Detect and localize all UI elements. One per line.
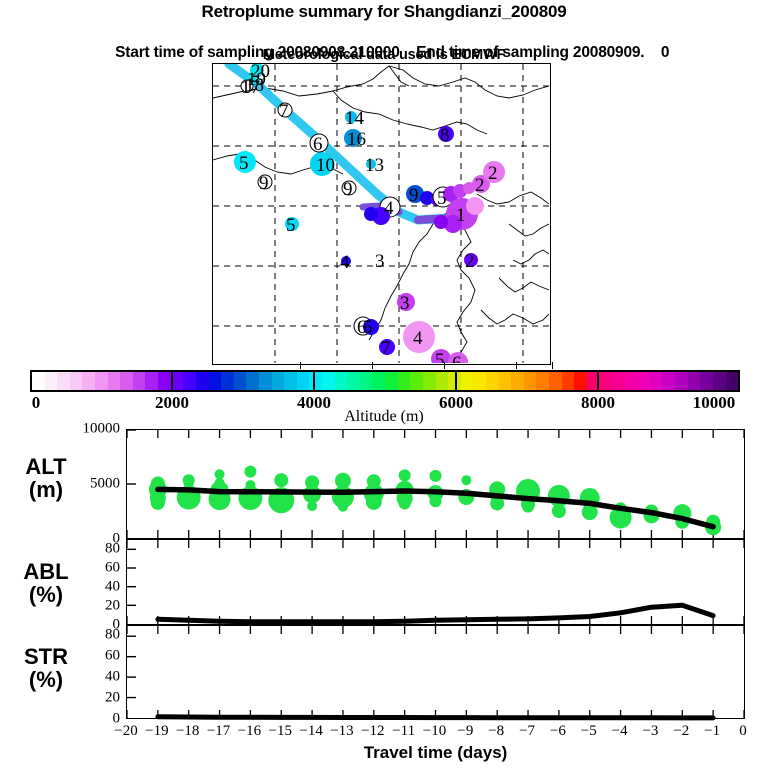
map-day-label: 5 <box>239 153 249 174</box>
xaxis-title: Travel time (days) <box>126 743 745 763</box>
map-day-label: 10 <box>316 155 335 176</box>
colorbar-segment <box>297 372 310 390</box>
colorbar-segment <box>360 372 373 390</box>
retroplume-map[interactable]: 201918177596101416138954493522135674562 <box>212 63 551 365</box>
alt-scatter-point <box>215 469 225 479</box>
abl-plot-canvas <box>127 540 744 624</box>
x-tick-label: −17 <box>207 723 230 740</box>
altitude-colorbar <box>30 370 740 392</box>
x-tick-label: 0 <box>739 723 747 740</box>
colorbar-segment <box>461 372 474 390</box>
colorbar-segment <box>536 372 549 390</box>
x-tick-label: −8 <box>488 723 504 740</box>
colorbar-segment <box>599 372 612 390</box>
colorbar-segment <box>32 372 45 390</box>
y-tick-label: 80 <box>60 627 120 644</box>
x-tick-label: −7 <box>519 723 535 740</box>
alt-scatter-point <box>274 473 288 487</box>
colorbar-segment <box>322 372 335 390</box>
colorbar-segment <box>612 372 625 390</box>
x-tick-label: −12 <box>361 723 384 740</box>
retroplume-summary-figure: Retroplume summary for Shangdianzi_20080… <box>0 0 768 768</box>
colorbar-segment <box>82 372 95 390</box>
colorbar-major-division <box>171 370 173 392</box>
map-day-label: 6 <box>452 353 462 363</box>
x-tick-label: −10 <box>423 723 446 740</box>
alt-scatter-point <box>366 494 382 510</box>
colorbar-segment <box>183 372 196 390</box>
map-day-label: 16 <box>347 129 366 150</box>
map-day-label: 6 <box>357 317 367 338</box>
map-day-label: 2 <box>465 251 475 272</box>
map-day-label: 9 <box>259 173 269 194</box>
colorbar-segment <box>108 372 121 390</box>
x-tick-label: −5 <box>581 723 597 740</box>
map-day-label: 8 <box>440 125 450 146</box>
page-title: Retroplume summary for Shangdianzi_20080… <box>0 2 768 22</box>
abl-panel[interactable] <box>126 539 745 625</box>
map-bottom-tick <box>372 362 373 369</box>
colorbar-segment <box>272 372 285 390</box>
alt-scatter-point <box>151 496 165 510</box>
colorbar-segment <box>410 372 423 390</box>
y-tick-label: 20 <box>60 690 120 707</box>
colorbar-segment <box>473 372 486 390</box>
x-tick-label: −15 <box>269 723 292 740</box>
x-tick-label: −6 <box>550 723 566 740</box>
colorbar-segment <box>625 372 638 390</box>
str-panel[interactable] <box>126 625 745 719</box>
map-bottom-tick <box>444 362 445 369</box>
x-tick-label: −9 <box>457 723 473 740</box>
colorbar-segment <box>309 372 322 390</box>
map-day-label: 7 <box>279 101 289 122</box>
y-tick-label: 10000 <box>60 421 120 438</box>
met-data-label: Meteorological data used is ECMWF <box>0 47 768 63</box>
abl-trend-line <box>158 605 713 621</box>
alt-scatter-point <box>552 504 566 518</box>
y-tick-label: 0 <box>60 711 120 728</box>
map-day-label: 1 <box>456 205 466 226</box>
x-tick-label: −14 <box>299 723 322 740</box>
colorbar-segment <box>436 372 449 390</box>
colorbar-segment <box>486 372 499 390</box>
colorbar-segment <box>700 372 713 390</box>
x-tick-label: −18 <box>176 723 199 740</box>
map-bottom-tick <box>552 362 553 369</box>
colorbar-segment <box>713 372 726 390</box>
colorbar-segment <box>574 372 587 390</box>
y-tick-label: 20 <box>60 597 120 614</box>
map-day-label: 9 <box>343 179 353 200</box>
colorbar-segment <box>209 372 222 390</box>
colorbar-segment <box>133 372 146 390</box>
y-tick-label: 40 <box>60 669 120 686</box>
colorbar-segment <box>726 372 739 390</box>
colorbar-segment <box>637 372 650 390</box>
map-day-label: 3 <box>400 293 410 314</box>
map-day-label: 9 <box>409 185 419 206</box>
str-plot-canvas <box>127 626 744 718</box>
alt-scatter-point <box>307 501 317 511</box>
y-tick-label: 60 <box>60 559 120 576</box>
colorbar-major-division <box>597 370 599 392</box>
colorbar-segment <box>70 372 83 390</box>
alt-scatter-point <box>461 475 471 485</box>
colorbar-segment <box>196 372 209 390</box>
alt-scatter-point <box>244 466 256 478</box>
map-day-label: 4 <box>340 252 350 273</box>
colorbar-major-division <box>455 370 457 392</box>
colorbar-segment <box>511 372 524 390</box>
colorbar-segment <box>335 372 348 390</box>
colorbar-segment <box>347 372 360 390</box>
y-tick-label: 80 <box>60 540 120 557</box>
map-day-label: 4 <box>413 328 423 349</box>
colorbar-segment <box>284 372 297 390</box>
x-tick-label: −11 <box>392 723 415 740</box>
colorbar-major-division <box>313 370 315 392</box>
map-day-label: 4 <box>384 198 394 219</box>
colorbar-segment <box>45 372 58 390</box>
colorbar-segment <box>120 372 133 390</box>
colorbar-segment <box>650 372 663 390</box>
map-day-label: 14 <box>345 108 365 129</box>
colorbar-segment <box>246 372 259 390</box>
colorbar-segment <box>95 372 108 390</box>
y-tick-label: 40 <box>60 578 120 595</box>
alt-scatter-point <box>430 470 442 482</box>
x-tick-label: −4 <box>612 723 628 740</box>
alt-scatter-point <box>430 495 442 507</box>
colorbar-segment <box>145 372 158 390</box>
map-bottom-tick <box>300 362 301 369</box>
map-day-label: 2 <box>488 163 498 184</box>
colorbar-segment <box>385 372 398 390</box>
colorbar-segment <box>675 372 688 390</box>
x-tick-label: −1 <box>704 723 720 740</box>
colorbar-segment <box>499 372 512 390</box>
map-day-label: 13 <box>365 155 384 176</box>
x-tick-label: −20 <box>114 723 137 740</box>
colorbar-segment <box>549 372 562 390</box>
x-tick-label: −19 <box>145 723 168 740</box>
alt-panel[interactable] <box>126 429 745 539</box>
map-bottom-tick <box>516 362 517 369</box>
x-tick-label: −3 <box>642 723 658 740</box>
x-tick-label: −2 <box>673 723 689 740</box>
colorbar-segment <box>57 372 70 390</box>
colorbar-segment <box>158 372 171 390</box>
str-trend-line <box>158 717 713 718</box>
alt-plot-canvas <box>127 430 744 538</box>
colorbar-segment <box>398 372 411 390</box>
alt-scatter-point <box>399 469 411 481</box>
x-tick-label: −16 <box>238 723 261 740</box>
map-day-label: 2 <box>475 175 485 196</box>
colorbar-segment <box>524 372 537 390</box>
colorbar-segment <box>259 372 272 390</box>
colorbar-segment <box>562 372 575 390</box>
alt-scatter-point <box>399 497 411 509</box>
colorbar-segment <box>234 372 247 390</box>
y-tick-label: 5000 <box>60 476 120 493</box>
colorbar-segment <box>221 372 234 390</box>
map-day-label: 5 <box>286 215 296 236</box>
colorbar-segment <box>423 372 436 390</box>
colorbar-segment <box>688 372 701 390</box>
y-tick-label: 60 <box>60 648 120 665</box>
colorbar-segment <box>662 372 675 390</box>
map-day-label: 17 <box>241 77 260 98</box>
map-day-label: 6 <box>313 134 323 155</box>
map-day-label: 7 <box>381 338 391 359</box>
map-day-label: 3 <box>375 251 385 272</box>
map-canvas: 201918177596101416138954493522135674562 <box>213 64 549 363</box>
x-tick-label: −13 <box>330 723 353 740</box>
alt-scatter-point <box>338 502 348 512</box>
colorbar-segment <box>372 372 385 390</box>
alt-scatter-point <box>522 501 534 513</box>
map-day-label: 5 <box>437 188 447 209</box>
